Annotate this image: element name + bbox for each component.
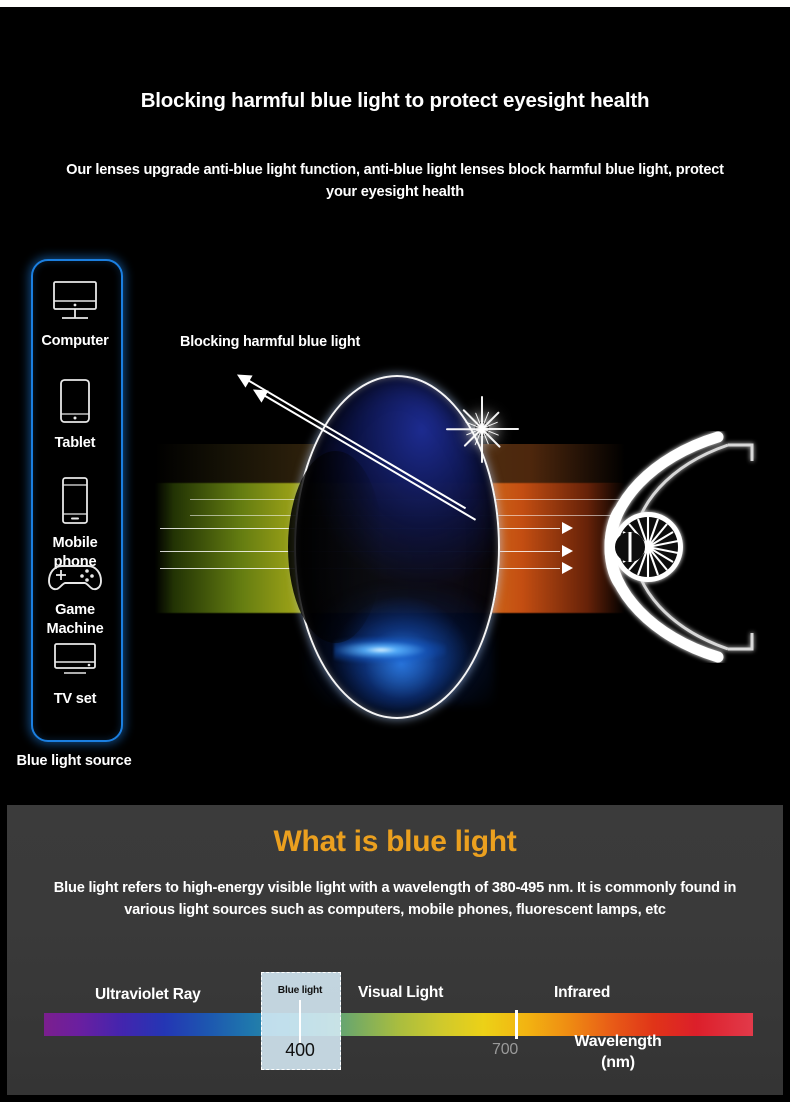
panel-title: What is blue light	[7, 825, 783, 859]
ray-arrow-icon	[562, 522, 573, 534]
spectrum-label-visual-light: Visual Light	[358, 984, 443, 1002]
device-label: Game Machine	[31, 601, 119, 639]
blue-light-callout-value: 400	[261, 1040, 339, 1061]
hero-section: Blocking harmful blue light to protect e…	[0, 7, 790, 805]
ray-arrow-icon	[562, 545, 573, 557]
spectrum-tick-700	[515, 1010, 518, 1039]
tv-icon	[31, 641, 119, 688]
spectrum-label-ultraviolet: Ultraviolet Ray	[95, 984, 235, 1005]
page-subtitle: Our lenses upgrade anti-blue light funct…	[50, 159, 740, 203]
gamepad-icon	[31, 560, 119, 599]
sparkle-icon	[444, 391, 520, 467]
blue-light-source-caption: Blue light source	[14, 751, 134, 772]
spectrum-tick-label-700: 700	[492, 1041, 518, 1059]
spectrum-axis-label: Wavelength (nm)	[533, 1031, 703, 1073]
blue-light-callout-label: Blue light	[261, 985, 339, 996]
device-item-computer: Computer	[31, 279, 119, 351]
blocking-arrow-icon	[233, 368, 252, 387]
ray-arrow-icon	[562, 562, 573, 574]
eye-icon	[600, 431, 780, 663]
smartphone-icon	[31, 475, 119, 532]
page-title: Blocking harmful blue light to protect e…	[0, 89, 790, 113]
device-item-tv-set: TV set	[31, 641, 119, 709]
blocking-arrow-icon	[249, 383, 268, 402]
top-white-strip	[0, 0, 790, 7]
tablet-icon	[31, 377, 119, 432]
lens-rim-shadow	[288, 451, 383, 644]
device-label: Computer	[31, 332, 119, 351]
device-item-game-machine: Game Machine	[31, 560, 119, 639]
spectrum-axis-label-text: Wavelength	[574, 1033, 661, 1050]
panel-body-text: Blue light refers to high-energy visible…	[45, 877, 745, 921]
spectrum-axis-label-unit: (nm)	[601, 1054, 635, 1071]
device-label: Tablet	[31, 434, 119, 453]
device-item-mobile-phone: Mobile phone	[31, 475, 119, 572]
infographic-page: Blocking harmful blue light to protect e…	[0, 0, 790, 1102]
device-label: TV set	[31, 690, 119, 709]
blocking-label: Blocking harmful blue light	[180, 332, 390, 353]
blue-light-callout-tick	[299, 1000, 301, 1044]
spectrum-label-infrared: Infrared	[554, 984, 610, 1002]
device-item-tablet: Tablet	[31, 377, 119, 453]
monitor-icon	[31, 279, 119, 330]
